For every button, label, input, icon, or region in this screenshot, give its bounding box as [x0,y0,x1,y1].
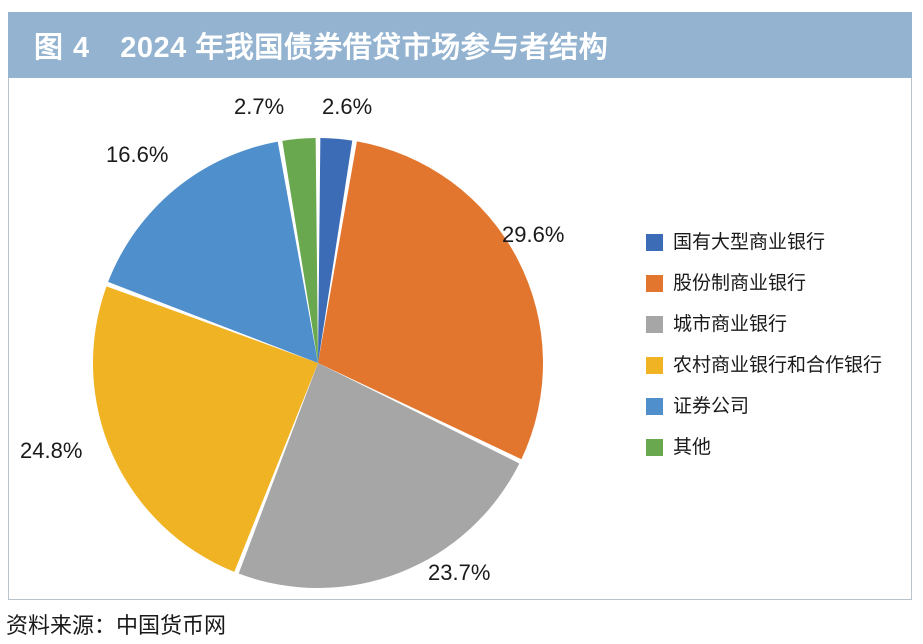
legend-item-other[interactable]: 其他 [646,427,908,468]
legend-swatch-icon [646,234,663,251]
legend-item-rural-banks[interactable]: 农村商业银行和合作银行 [646,345,908,386]
pct-label-state-banks: 2.6% [322,94,372,120]
pct-label-joint-stock: 29.6% [502,222,564,248]
figure-number: 图 4 [34,24,90,66]
legend-swatch-icon [646,316,663,333]
legend-item-label: 证券公司 [673,397,749,416]
pct-label-securities: 16.6% [106,142,168,168]
legend-item-label: 其他 [673,438,711,457]
legend-swatch-icon [646,275,663,292]
pie-chart-svg [8,78,628,600]
pct-label-other: 2.7% [234,94,284,120]
legend-swatch-icon [646,439,663,456]
pie-chart-area: 2.7% 2.6% 29.6% 23.7% 24.8% 16.6% [8,78,628,600]
figure-title: 2024 年我国债券借贷市场参与者结构 [120,24,608,66]
legend-item-joint-stock[interactable]: 股份制商业银行 [646,263,908,304]
legend-item-label: 农村商业银行和合作银行 [673,356,882,375]
legend-item-city-banks[interactable]: 城市商业银行 [646,304,908,345]
legend-item-label: 城市商业银行 [673,315,787,334]
legend-item-label: 国有大型商业银行 [673,233,825,252]
legend-item-label: 股份制商业银行 [673,274,806,293]
legend-item-securities[interactable]: 证券公司 [646,386,908,427]
legend-swatch-icon [646,398,663,415]
pct-label-rural-banks: 24.8% [20,438,82,464]
figure-root: 图 4 2024 年我国债券借贷市场参与者结构 2.7% 2.6% 29.6% … [0,0,923,644]
pct-label-city-banks: 23.7% [428,560,490,586]
source-note: 资料来源：中国货币网 [6,608,226,640]
chart-legend: 国有大型商业银行 股份制商业银行 城市商业银行 农村商业银行和合作银行 证券公司… [646,222,908,468]
legend-swatch-icon [646,357,663,374]
figure-header-bar: 图 4 2024 年我国债券借贷市场参与者结构 [8,12,912,78]
legend-item-state-banks[interactable]: 国有大型商业银行 [646,222,908,263]
pie-slices-group [93,138,543,588]
